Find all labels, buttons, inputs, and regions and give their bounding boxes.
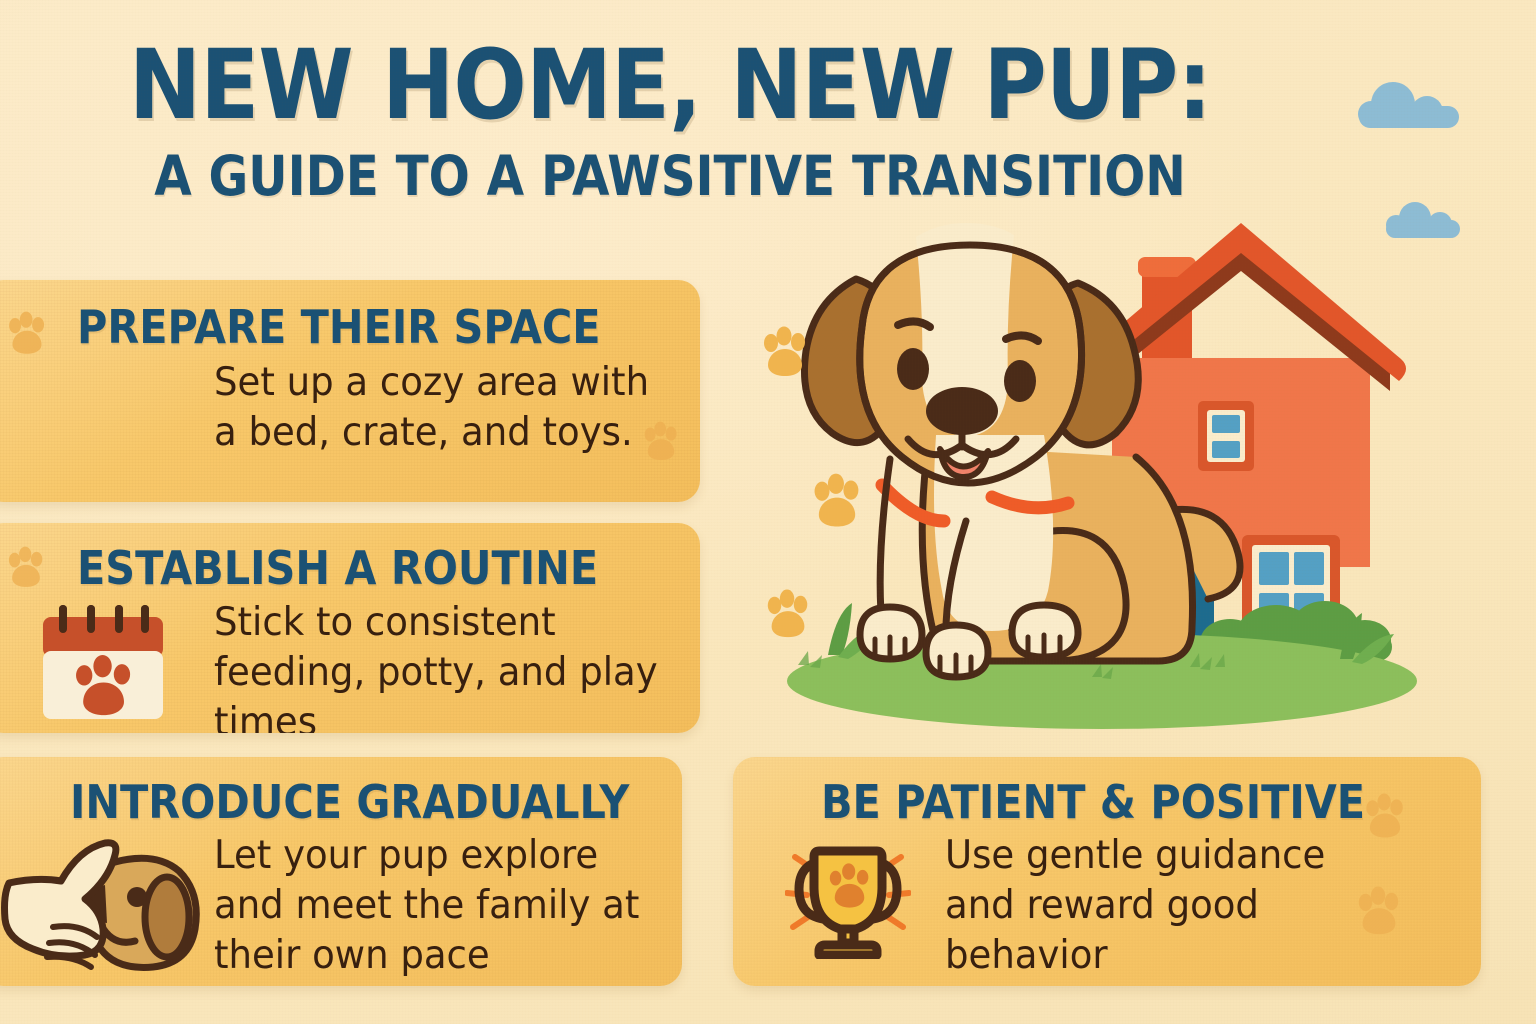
card-be-patient-and-positive[interactable]: BE PATIENT & POSITIVE Use gentle guidanc…: [733, 757, 1481, 986]
card-body: Let your pup explore and meet the family…: [214, 831, 651, 981]
card-title: BE PATIENT & POSITIVE: [821, 775, 1365, 829]
card-introduce-gradually[interactable]: INTRODUCE GRADUALLY Let your pup explore…: [0, 757, 682, 986]
cloud-large-icon: [1355, 78, 1465, 138]
paw-print-decor-icon: [4, 545, 48, 593]
page-title: NEW HOME, NEW PUP:: [67, 38, 1273, 132]
card-title: INTRODUCE GRADUALLY: [70, 775, 629, 829]
infographic-canvas: NEW HOME, NEW PUP: A GUIDE TO A PAWSITIV…: [0, 0, 1536, 1024]
card-body: Use gentle guidance and reward good beha…: [945, 831, 1392, 981]
card-title: ESTABLISH A ROUTINE: [77, 541, 598, 595]
page-subtitle: A GUIDE TO A PAWSITIVE TRANSITION: [80, 148, 1259, 206]
card-title: PREPARE THEIR SPACE: [77, 300, 601, 354]
card-body: Stick to consistent feeding, potty, and …: [214, 598, 689, 733]
calendar-with-paw-icon: [37, 605, 169, 723]
illustration-group: [740, 215, 1536, 745]
trophy-with-paw-icon: [785, 835, 911, 959]
card-establish-a-routine[interactable]: ESTABLISH A ROUTINE Stick to consistent …: [0, 523, 700, 733]
hand-petting-dog-icon: [0, 835, 207, 975]
card-body: Set up a cozy area with a bed, crate, an…: [214, 358, 651, 458]
card-prepare-their-space[interactable]: PREPARE THEIR SPACE Set up a cozy area w…: [0, 280, 700, 502]
page-title-block: NEW HOME, NEW PUP: A GUIDE TO A PAWSITIV…: [0, 38, 1340, 206]
paw-print-decor-icon: [4, 310, 50, 360]
